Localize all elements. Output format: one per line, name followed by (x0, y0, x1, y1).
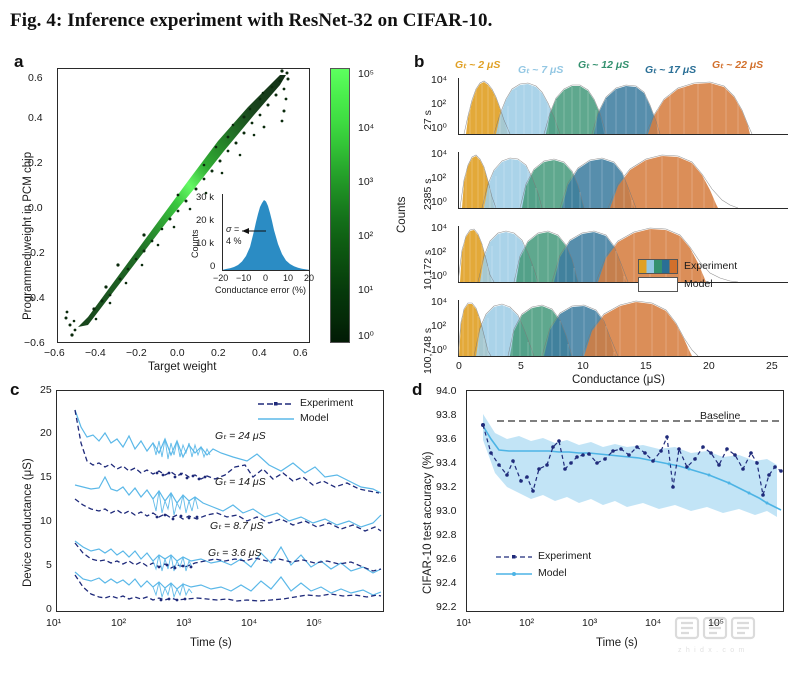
panel-c-series-label-1: Gₜ = 14 μS (215, 476, 266, 488)
panel-a-xtick-4: 0.2 (211, 347, 226, 359)
panel-d-legend-model-label: Model (538, 567, 567, 579)
panel-b-legend-model-swatch (638, 277, 678, 292)
panel-a-ytick-1: −0.4 (24, 292, 45, 304)
panel-d-ytick-1: 92.4 (436, 577, 456, 589)
panel-b-xtick-1: 5 (518, 360, 524, 372)
panel-c-legend: Experiment Model (258, 397, 388, 429)
panel-b-row-1: 2385 s 10⁴ 10² 10⁰ (400, 150, 800, 218)
colorbar-tick-3: 10³ (358, 176, 373, 188)
panel-c-ytick-0: 0 (46, 603, 52, 615)
panel-b-row-0-ytick-1: 10² (431, 98, 446, 110)
panel-b-row-0-xaxis (458, 134, 788, 135)
panel-a: a Programmed weight in PCM chip (0, 42, 400, 372)
inset-xtick-3: 10 (283, 273, 293, 283)
panel-d-ytick-8: 93.8 (436, 409, 456, 421)
panel-d-xtick-2: 10³ (582, 617, 597, 629)
panel-c-ytick-2: 10 (40, 515, 52, 527)
watermark-text: z h i d x . c o m (678, 647, 745, 654)
inset-annotation-line2: 4 % (226, 236, 242, 246)
panel-b-row-3-ytick-1: 10² (431, 320, 446, 332)
panel-a-colorbar: 10⁵ 10⁴ 10³ 10² 10¹ 10⁰ Counts (330, 68, 400, 348)
panel-d-legend-experiment-line (496, 552, 532, 562)
panel-b-row-2-ytick-0: 10⁰ (431, 270, 447, 282)
panel-a-ytick-5: 0.4 (28, 112, 43, 124)
panel-d-xtick-3: 10⁴ (645, 617, 661, 629)
panel-a-label: a (14, 52, 23, 72)
panel-c-ytick-5: 25 (40, 384, 52, 396)
panel-b-row-3-hist (458, 300, 788, 356)
panel-a-ytick-3: 0.0 (28, 202, 43, 214)
panel-d-legend: Experiment Model (496, 550, 636, 584)
panel-a-ytick-6: 0.6 (28, 72, 43, 84)
panel-c-ylabel: Device conductance (μS) (22, 458, 34, 587)
panel-a-xtick-6: 0.6 (293, 347, 308, 359)
panel-d-xlabel: Time (s) (596, 637, 638, 649)
panel-a-ytick-2: −0.2 (24, 247, 45, 259)
panel-c-xtick-4: 10⁵ (306, 617, 322, 629)
panel-b-row-0-hist (458, 78, 788, 134)
panel-d-ytick-3: 92.8 (436, 529, 456, 541)
panel-b-row-1-ytick-1: 10² (431, 172, 446, 184)
panel-b-legend-experiment-swatch (638, 259, 678, 274)
panel-c-legend-model-label: Model (300, 412, 329, 424)
inset-xtick-1: −10 (236, 273, 251, 283)
panel-a-xtick-5: 0.4 (252, 347, 267, 359)
panel-a-ytick-4: 0.2 (28, 157, 43, 169)
panel-b-row-0-ytick-2: 10⁴ (431, 74, 447, 86)
figure-root: Fig. 4: Inference experiment with ResNet… (0, 0, 800, 675)
panel-d-ytick-0: 92.2 (436, 601, 456, 613)
inset-ytick-2: 20 k (196, 215, 214, 226)
inset-xtick-0: −20 (213, 273, 228, 283)
panel-b-legend-experiment-label: Experiment (684, 260, 737, 272)
inset-ytick-3: 30 k (196, 192, 214, 203)
panel-c-label: c (10, 380, 19, 400)
inset-xlabel: Conductance error (%) (215, 285, 306, 295)
panel-c-xlabel: Time (s) (190, 637, 232, 649)
panel-b-legend-model-label: Model (684, 278, 713, 290)
panel-c-ytick-1: 5 (46, 559, 52, 571)
inset-xtick-2: 0 (263, 273, 268, 283)
panel-c-series-label-2: Gₜ = 8.7 μS (210, 520, 264, 532)
watermark-logo: z h i d x . c o m (672, 612, 792, 664)
panel-b-row-1-ytick-0: 10⁰ (431, 196, 447, 208)
inset-x-axis (222, 270, 310, 271)
panel-c-xtick-1: 10² (111, 617, 126, 629)
colorbar-tick-1: 10¹ (358, 284, 373, 296)
colorbar-tick-2: 10² (358, 230, 373, 242)
panel-b-row-3: 100,748 s 10⁴ 10² 10⁰ (400, 298, 800, 368)
panel-b-group-label-1: Gₜ ~ 7 μS (518, 64, 563, 76)
panel-c-legend-model-line (258, 414, 294, 424)
panel-b-row-1-hist (458, 152, 788, 208)
inset-ylabel: Counts (190, 229, 200, 258)
watermark: z h i d x . c o m (672, 612, 792, 664)
panel-b-row-0-ytick-0: 10⁰ (431, 122, 447, 134)
panel-b-xtick-5: 25 (766, 360, 778, 372)
panel-b-row-3-xaxis (458, 356, 788, 357)
panel-c-xtick-0: 10¹ (46, 617, 61, 629)
panel-a-xtick-0: −0.6 (44, 347, 65, 359)
panel-d-ytick-6: 93.4 (436, 457, 456, 469)
panel-c-xtick-2: 10³ (176, 617, 191, 629)
panel-c-xtick-3: 10⁴ (241, 617, 257, 629)
panel-b-label: b (414, 52, 424, 72)
panel-b-group-label-4: Gₜ ~ 22 μS (712, 59, 763, 71)
panel-b-legend: Experiment Model (638, 258, 788, 298)
panel-b-row-1-xaxis (458, 208, 788, 209)
panel-c-series-label-3: Gₜ = 3.6 μS (208, 547, 262, 559)
inset-annotation-line1: σ = (226, 224, 239, 234)
panel-d-label: d (412, 380, 422, 400)
panel-d-ytick-7: 93.6 (436, 433, 456, 445)
panel-c-ytick-3: 15 (40, 471, 52, 483)
panel-b-row-1-ytick-2: 10⁴ (431, 148, 447, 160)
panel-c-series-label-0: Gₜ = 24 μS (215, 430, 266, 442)
panel-d-ytick-2: 92.6 (436, 553, 456, 565)
panel-a-inset: 30 k 20 k 10 k 0 Counts σ = 4 % −20 −10 … (200, 192, 315, 302)
panel-c: c Device conductance (μS) (0, 372, 400, 675)
panel-b-xtick-3: 15 (640, 360, 652, 372)
colorbar-gradient (330, 68, 350, 343)
panel-d-baseline-label: Baseline (700, 410, 740, 422)
panel-b: b Gₜ ~ 2 μS Gₜ ~ 7 μS Gₜ ~ 12 μS Gₜ ~ 17… (400, 42, 800, 372)
panel-b-group-label-3: Gₜ ~ 17 μS (645, 64, 696, 76)
panel-d-ylabel: CIFAR-10 test accuracy (%) (422, 451, 434, 594)
colorbar-tick-4: 10⁴ (358, 122, 374, 134)
panel-a-ytick-0: −0.6 (24, 337, 45, 349)
panel-d-legend-model-line (496, 569, 532, 579)
panel-b-group-label-2: Gₜ ~ 12 μS (578, 59, 629, 71)
colorbar-tick-0: 10⁰ (358, 330, 374, 342)
panel-b-row-3-ytick-0: 10⁰ (431, 344, 447, 356)
panel-d-legend-experiment-label: Experiment (538, 550, 591, 562)
panel-d-ytick-9: 94.0 (436, 385, 456, 397)
inset-annotation-arrow (242, 226, 272, 236)
panel-b-xtick-2: 10 (577, 360, 589, 372)
panel-c-legend-experiment-label: Experiment (300, 397, 353, 409)
panel-b-row-2-ytick-2: 10⁴ (431, 222, 447, 234)
panel-b-group-label-0: Gₜ ~ 2 μS (455, 59, 500, 71)
inset-ytick-0: 0 (210, 261, 215, 272)
panel-d-ytick-5: 93.2 (436, 481, 456, 493)
colorbar-tick-5: 10⁵ (358, 68, 374, 80)
panel-d-xtick-1: 10² (519, 617, 534, 629)
inset-xtick-4: 20 (304, 273, 314, 283)
figure-title: Fig. 4: Inference experiment with ResNet… (10, 10, 790, 32)
panel-d-ytick-4: 93.0 (436, 505, 456, 517)
panel-d-xtick-0: 10¹ (456, 617, 471, 629)
panel-a-xtick-3: 0.0 (170, 347, 185, 359)
panel-a-xtick-1: −0.4 (85, 347, 106, 359)
panel-b-xtick-0: 0 (456, 360, 462, 372)
panel-c-legend-experiment-line (258, 399, 294, 409)
panel-b-row-0: 27 s 10⁴ 10² 10⁰ (400, 76, 800, 144)
panel-b-row-3-ytick-2: 10⁴ (431, 296, 447, 308)
panel-b-xtick-4: 20 (703, 360, 715, 372)
panel-c-ytick-4: 20 (40, 427, 52, 439)
panel-a-xtick-2: −0.2 (126, 347, 147, 359)
panel-b-row-2-ytick-1: 10² (431, 246, 446, 258)
